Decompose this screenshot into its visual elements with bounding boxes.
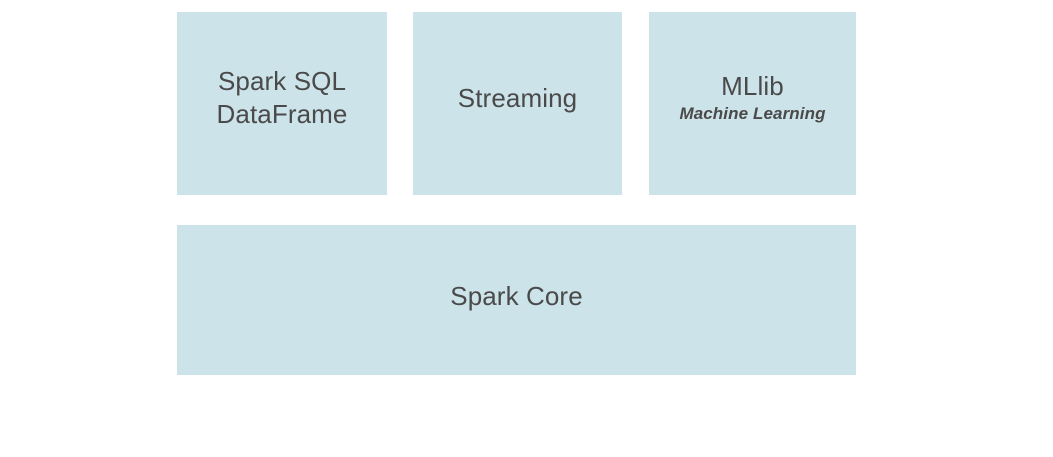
block-mllib-subtitle: Machine Learning — [679, 103, 825, 125]
block-mllib[interactable]: MLlib Machine Learning — [649, 12, 856, 195]
block-spark-sql[interactable]: Spark SQL DataFrame — [177, 12, 387, 195]
block-spark-core[interactable]: Spark Core — [177, 225, 856, 375]
block-spark-sql-subtitle: DataFrame — [217, 98, 348, 131]
block-spark-core-title: Spark Core — [450, 280, 583, 313]
block-spark-sql-title: Spark SQL — [218, 65, 346, 98]
diagram-canvas: Spark SQL DataFrame Streaming MLlib Mach… — [0, 0, 1053, 457]
block-streaming-title: Streaming — [458, 82, 577, 115]
block-mllib-title: MLlib — [721, 70, 784, 103]
block-streaming[interactable]: Streaming — [413, 12, 622, 195]
